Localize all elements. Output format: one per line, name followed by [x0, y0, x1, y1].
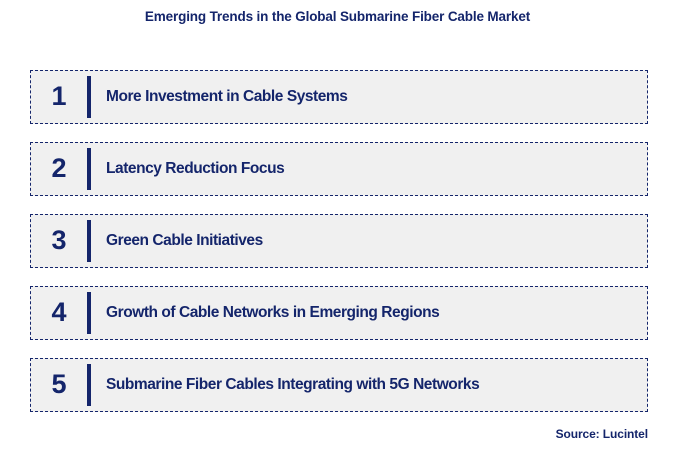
- trend-item-1: 1 More Investment in Cable Systems: [30, 70, 648, 124]
- trend-number: 4: [31, 299, 87, 328]
- trend-label: Green Cable Initiatives: [91, 232, 647, 250]
- page-title: Emerging Trends in the Global Submarine …: [0, 9, 675, 24]
- trend-label: Submarine Fiber Cables Integrating with …: [91, 376, 647, 394]
- trend-number: 1: [31, 83, 87, 112]
- infographic-container: Emerging Trends in the Global Submarine …: [0, 0, 675, 454]
- trend-item-2: 2 Latency Reduction Focus: [30, 142, 648, 196]
- source-attribution: Source: Lucintel: [556, 427, 648, 441]
- trend-label: Latency Reduction Focus: [91, 160, 647, 178]
- trend-number: 2: [31, 155, 87, 184]
- trend-number: 5: [31, 371, 87, 400]
- trend-label: More Investment in Cable Systems: [91, 88, 647, 106]
- trend-item-4: 4 Growth of Cable Networks in Emerging R…: [30, 286, 648, 340]
- trend-item-5: 5 Submarine Fiber Cables Integrating wit…: [30, 358, 648, 412]
- trend-number: 3: [31, 227, 87, 256]
- trend-item-3: 3 Green Cable Initiatives: [30, 214, 648, 268]
- trend-label: Growth of Cable Networks in Emerging Reg…: [91, 304, 647, 322]
- trend-list: 1 More Investment in Cable Systems 2 Lat…: [30, 70, 648, 412]
